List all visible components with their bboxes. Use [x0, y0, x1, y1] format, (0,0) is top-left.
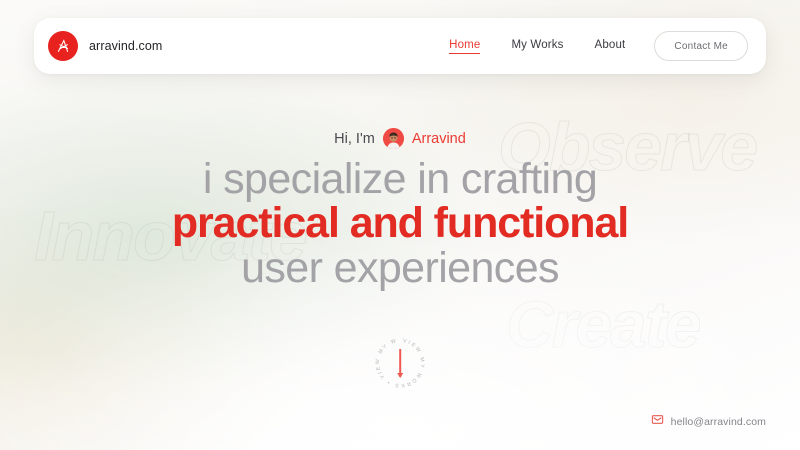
nav-link-my-works[interactable]: My Works — [511, 39, 563, 53]
hero-headline: i specialize in crafting practical and f… — [0, 157, 800, 290]
contact-me-button[interactable]: Contact Me — [654, 31, 748, 61]
brand-name: arravind.com — [89, 39, 162, 53]
hero-greeting: Hi, I'm Arravind — [0, 128, 800, 149]
contact-email[interactable]: hello@arravind.com — [651, 413, 766, 431]
scroll-to-works-badge[interactable]: VIEW MY WORKS • VIEW MY WORKS • — [371, 334, 429, 392]
email-address: hello@arravind.com — [671, 416, 766, 428]
envelope-icon — [651, 413, 664, 431]
site-header: arravind.com Home My Works About Contact… — [34, 18, 766, 74]
headline-line-1: i specialize in crafting — [0, 157, 800, 201]
svg-text:VIEW MY WORKS • VIEW MY WORKS: VIEW MY WORKS • VIEW MY WORKS • — [371, 334, 425, 388]
hero-name: Arravind — [412, 131, 466, 147]
arrow-down-icon — [399, 349, 401, 377]
nav-link-home[interactable]: Home — [449, 39, 480, 54]
main-navigation: Home My Works About — [449, 39, 625, 54]
decor-word-create: Create — [506, 286, 699, 362]
page-background: Observe Innovate Create arravind.com Hom… — [0, 0, 800, 450]
headline-line-2: practical and functional — [0, 201, 800, 245]
user-avatar — [383, 128, 404, 149]
hero-section: Hi, I'm Arravind i specialize in craftin… — [0, 128, 800, 290]
headline-line-3: user experiences — [0, 246, 800, 290]
arravind-logo-icon — [48, 31, 78, 61]
brand-logo[interactable]: arravind.com — [48, 31, 162, 61]
nav-link-about[interactable]: About — [595, 39, 626, 53]
greeting-prefix: Hi, I'm — [334, 131, 375, 147]
